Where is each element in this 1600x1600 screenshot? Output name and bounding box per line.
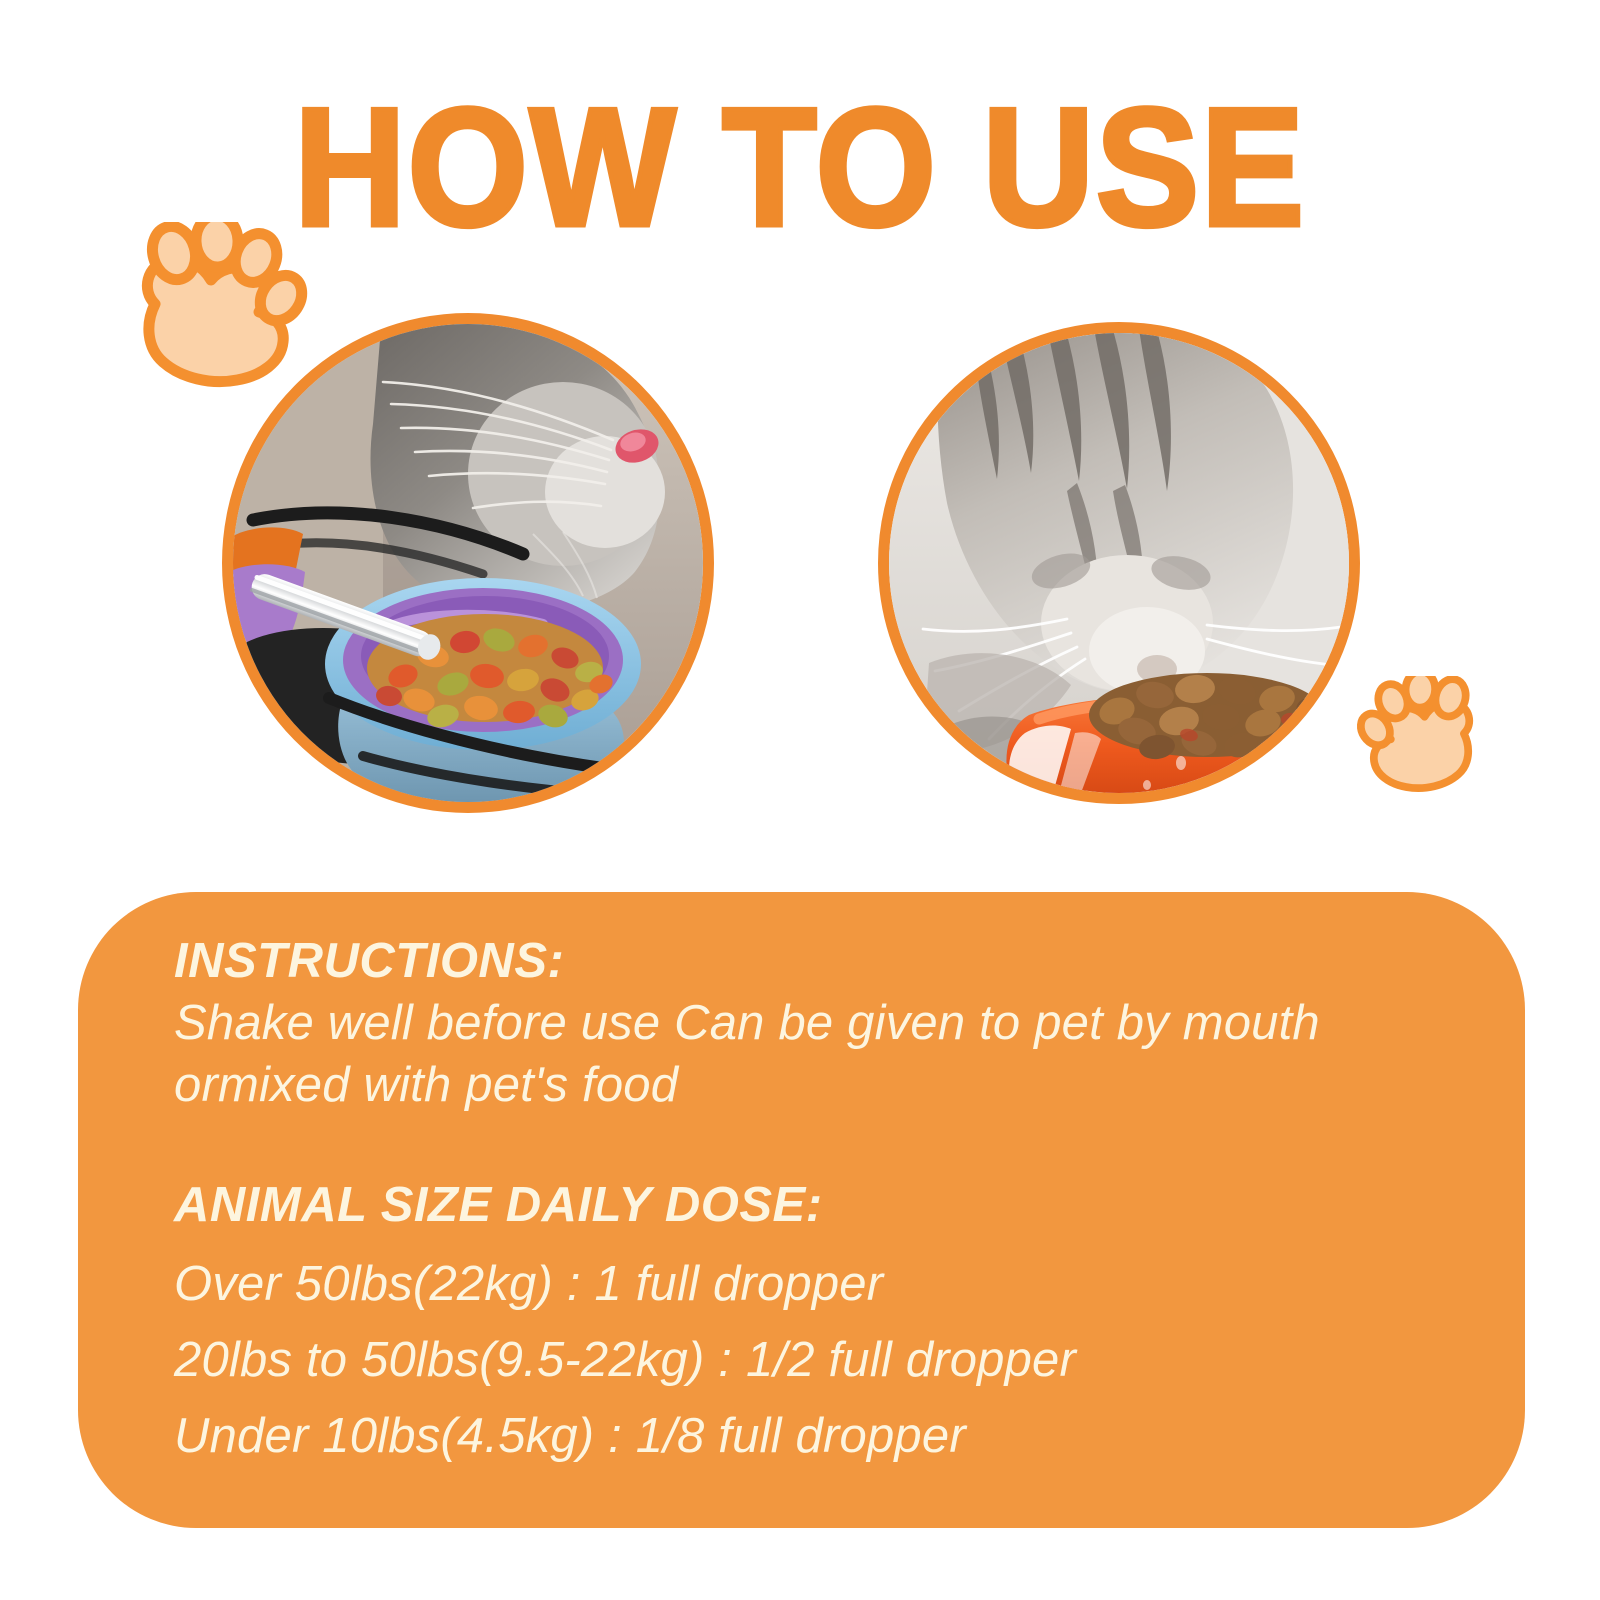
instructions-line-1: Shake well before use Can be given to pe… [174, 992, 1465, 1054]
dose-line-20-to-50lbs: 20lbs to 50lbs(9.5-22kg) : 1/2 full drop… [174, 1322, 1465, 1398]
infographic-page: HOW TO USE [0, 0, 1600, 1600]
paw-print-right-icon [1355, 676, 1485, 798]
dose-heading: ANIMAL SIZE DAILY DOSE: [174, 1174, 1465, 1236]
dose-spacer [174, 1236, 1465, 1246]
page-title: HOW TO USE [64, 92, 1536, 242]
paw-print-left-icon [125, 222, 310, 397]
photo-cat-with-dropper [222, 313, 714, 813]
instructions-card-content: INSTRUCTIONS: Shake well before use Can … [174, 930, 1465, 1474]
dose-line-under-10lbs: Under 10lbs(4.5kg) : 1/8 full dropper [174, 1398, 1465, 1474]
instructions-heading: INSTRUCTIONS: [174, 930, 1465, 992]
section-spacer [174, 1116, 1465, 1174]
instructions-line-2: ormixed with pet's food [174, 1054, 1465, 1116]
dose-line-over-50lbs: Over 50lbs(22kg) : 1 full dropper [174, 1246, 1465, 1322]
instructions-card: INSTRUCTIONS: Shake well before use Can … [78, 892, 1525, 1528]
photo-cat-eating [878, 322, 1360, 804]
